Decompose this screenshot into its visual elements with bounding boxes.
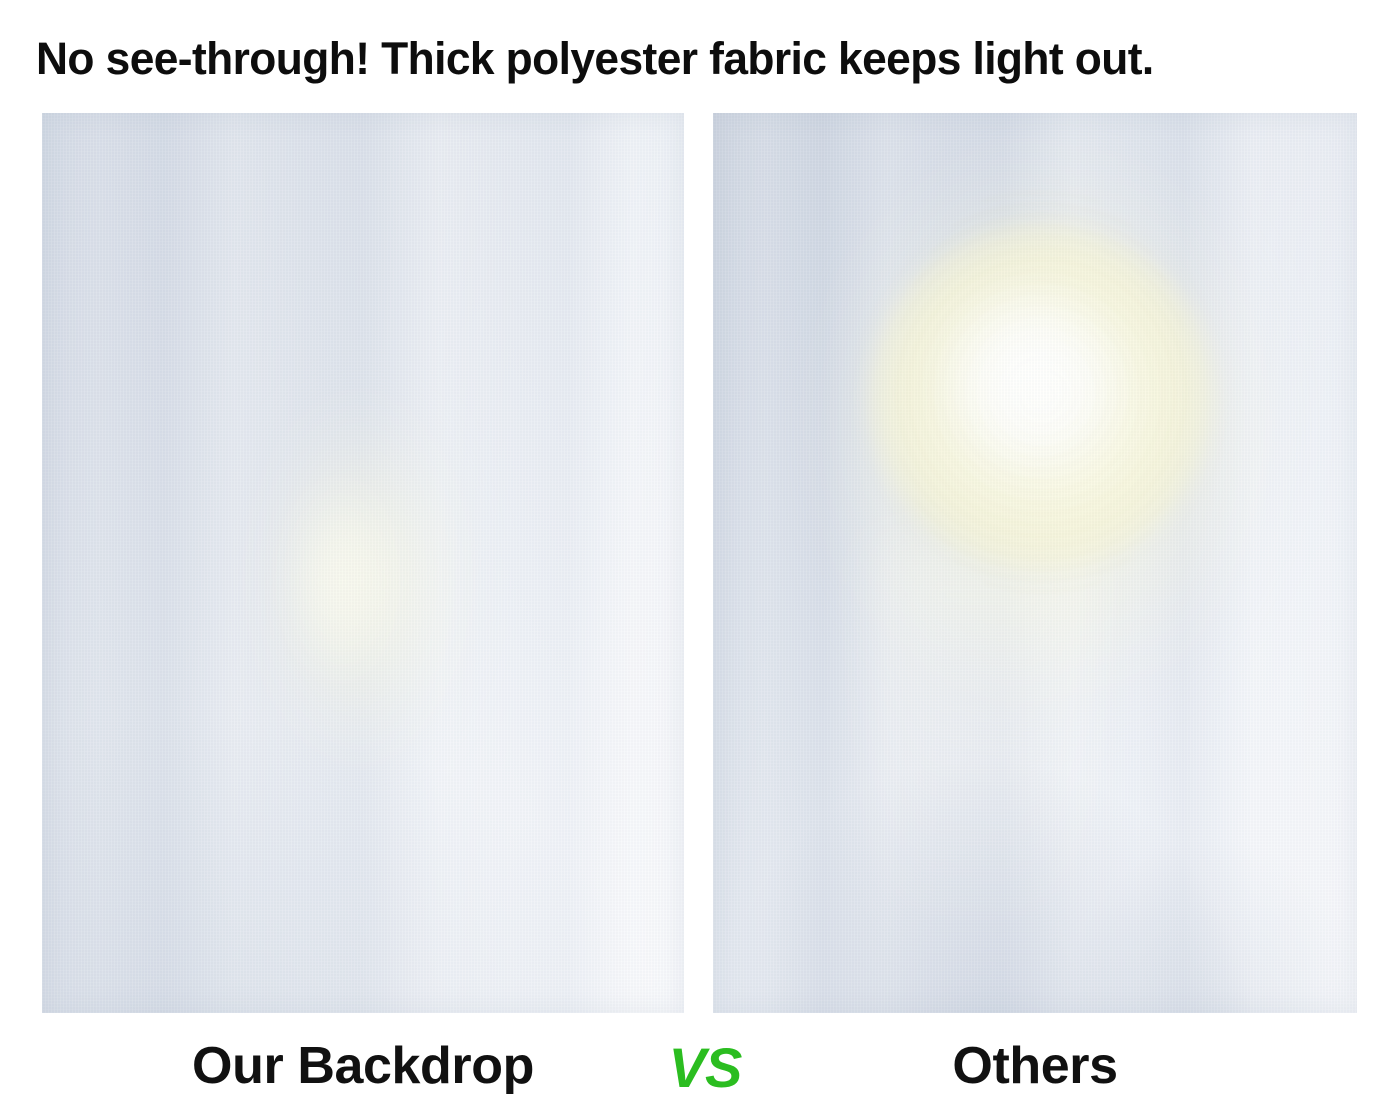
comparison-panels	[0, 113, 1400, 1013]
panel-others	[713, 113, 1357, 1013]
panel-vignette-others	[713, 113, 1357, 1013]
panel-captions: Our Backdrop VS Others	[0, 1030, 1400, 1120]
panel-vignette-our-backdrop	[42, 113, 684, 1013]
caption-others: Others	[713, 1030, 1357, 1102]
caption-our-backdrop: Our Backdrop	[42, 1030, 684, 1102]
page-headline: No see-through! Thick polyester fabric k…	[36, 28, 1356, 90]
panel-our-backdrop	[42, 113, 684, 1013]
